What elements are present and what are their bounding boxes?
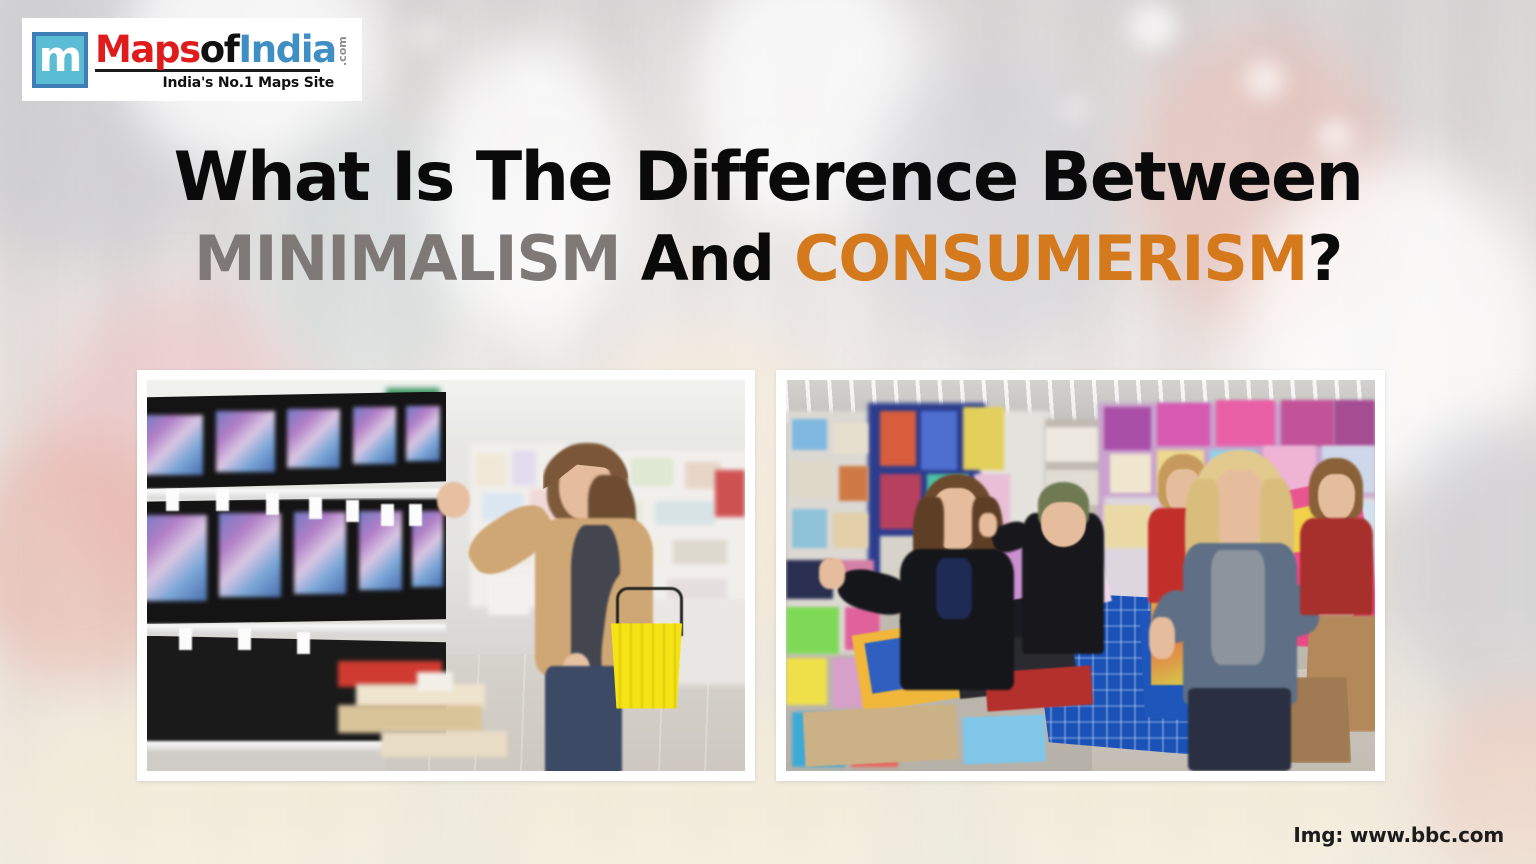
toy-box — [921, 411, 956, 470]
outstretched-hand — [979, 513, 997, 537]
toy-box — [1104, 505, 1151, 548]
dark-trousers — [1188, 688, 1292, 771]
tv-row — [147, 497, 446, 625]
logo-tagline: India's No.1 Maps Site — [95, 75, 334, 91]
price-tag — [346, 500, 359, 522]
toy-box — [792, 462, 833, 497]
image-credit: Img: www.bbc.com — [1293, 823, 1504, 847]
reaching-hand — [819, 558, 845, 588]
toy-box — [1104, 407, 1151, 450]
tv-screen — [294, 512, 347, 594]
logo-m-letter: m — [39, 36, 82, 78]
box — [338, 705, 482, 733]
tv-screen — [406, 406, 440, 461]
headline-block: What Is The Difference Between MINIMALIS… — [0, 143, 1536, 291]
logo-word-maps: Maps — [95, 32, 200, 68]
photo-consumerism-image — [786, 380, 1375, 771]
logo-word-com: .com — [337, 32, 348, 66]
grey-top — [1211, 550, 1265, 665]
bg-product — [715, 470, 745, 517]
toy-box — [963, 407, 1004, 470]
toy-box — [1216, 400, 1275, 447]
left-hand — [1149, 617, 1175, 659]
tv-screen — [353, 407, 397, 464]
tv-screen — [287, 409, 340, 468]
tv-row — [147, 392, 446, 490]
price-tag — [179, 628, 192, 650]
person-shopper-blonde — [1175, 450, 1305, 771]
headline-line-1: What Is The Difference Between — [0, 143, 1536, 213]
navy-top — [936, 558, 972, 619]
toy-box — [786, 658, 827, 705]
person-shopper-brunette — [892, 474, 1022, 709]
tv-screen — [147, 415, 203, 475]
toy-box — [1334, 400, 1375, 447]
price-tag — [409, 504, 422, 526]
basket-ribs — [608, 623, 685, 708]
price-tag — [297, 632, 310, 654]
photo-right-frame — [776, 370, 1385, 781]
toy-box — [880, 411, 915, 466]
price-tag — [381, 504, 394, 526]
tv-screen — [219, 513, 281, 597]
toy-box — [1281, 400, 1334, 447]
toy-box — [839, 466, 868, 501]
toy-box — [792, 509, 827, 548]
price-tag — [216, 489, 229, 511]
headline-line-2: MINIMALISM And CONSUMERISM? — [0, 227, 1536, 291]
raised-hand — [437, 482, 470, 518]
toy-box — [833, 423, 868, 454]
toy-box — [833, 513, 868, 548]
headline-question-mark: ? — [1307, 222, 1342, 295]
toy-box-cyan — [962, 715, 1046, 765]
toy-box — [792, 419, 827, 450]
toy-box-cardboard — [802, 704, 958, 767]
red-top — [1300, 518, 1374, 615]
logo-wordmark: Maps of India .com India's No.1 Maps Sit… — [95, 18, 352, 101]
tv-screen — [147, 515, 207, 602]
price-tag — [309, 497, 322, 519]
yellow-shopping-basket — [608, 623, 685, 708]
price-tag — [166, 489, 179, 511]
mapsofindia-logo[interactable]: m Maps of India .com India's No.1 Maps S… — [22, 18, 362, 101]
poster-canvas: m Maps of India .com India's No.1 Maps S… — [0, 0, 1536, 864]
headline-and: And — [620, 222, 794, 295]
tv-screen — [216, 411, 275, 471]
price-tag — [266, 493, 279, 515]
toy-box — [786, 607, 839, 654]
person-shopper-man-cap — [1022, 482, 1104, 654]
face — [1318, 474, 1355, 521]
logo-word-india: India — [238, 32, 335, 68]
photo-left-frame — [137, 370, 755, 781]
shelf-rail — [147, 489, 446, 499]
person-minimalist-shopper — [482, 443, 685, 771]
photo-minimalism-image — [147, 380, 745, 771]
logo-word-row: Maps of India .com — [95, 32, 352, 68]
price-tag — [238, 628, 251, 650]
logo-word-of: of — [200, 32, 239, 68]
logo-m-icon: m — [32, 32, 88, 88]
toy-box — [1045, 427, 1098, 462]
headline-consumerism: CONSUMERISM — [794, 222, 1307, 295]
face — [1041, 502, 1086, 547]
toy-box — [1157, 403, 1210, 446]
box — [417, 672, 453, 691]
blue-jeans — [545, 666, 622, 771]
person-shopper-glasses — [1298, 458, 1375, 614]
headline-minimalism: MINIMALISM — [194, 222, 620, 295]
